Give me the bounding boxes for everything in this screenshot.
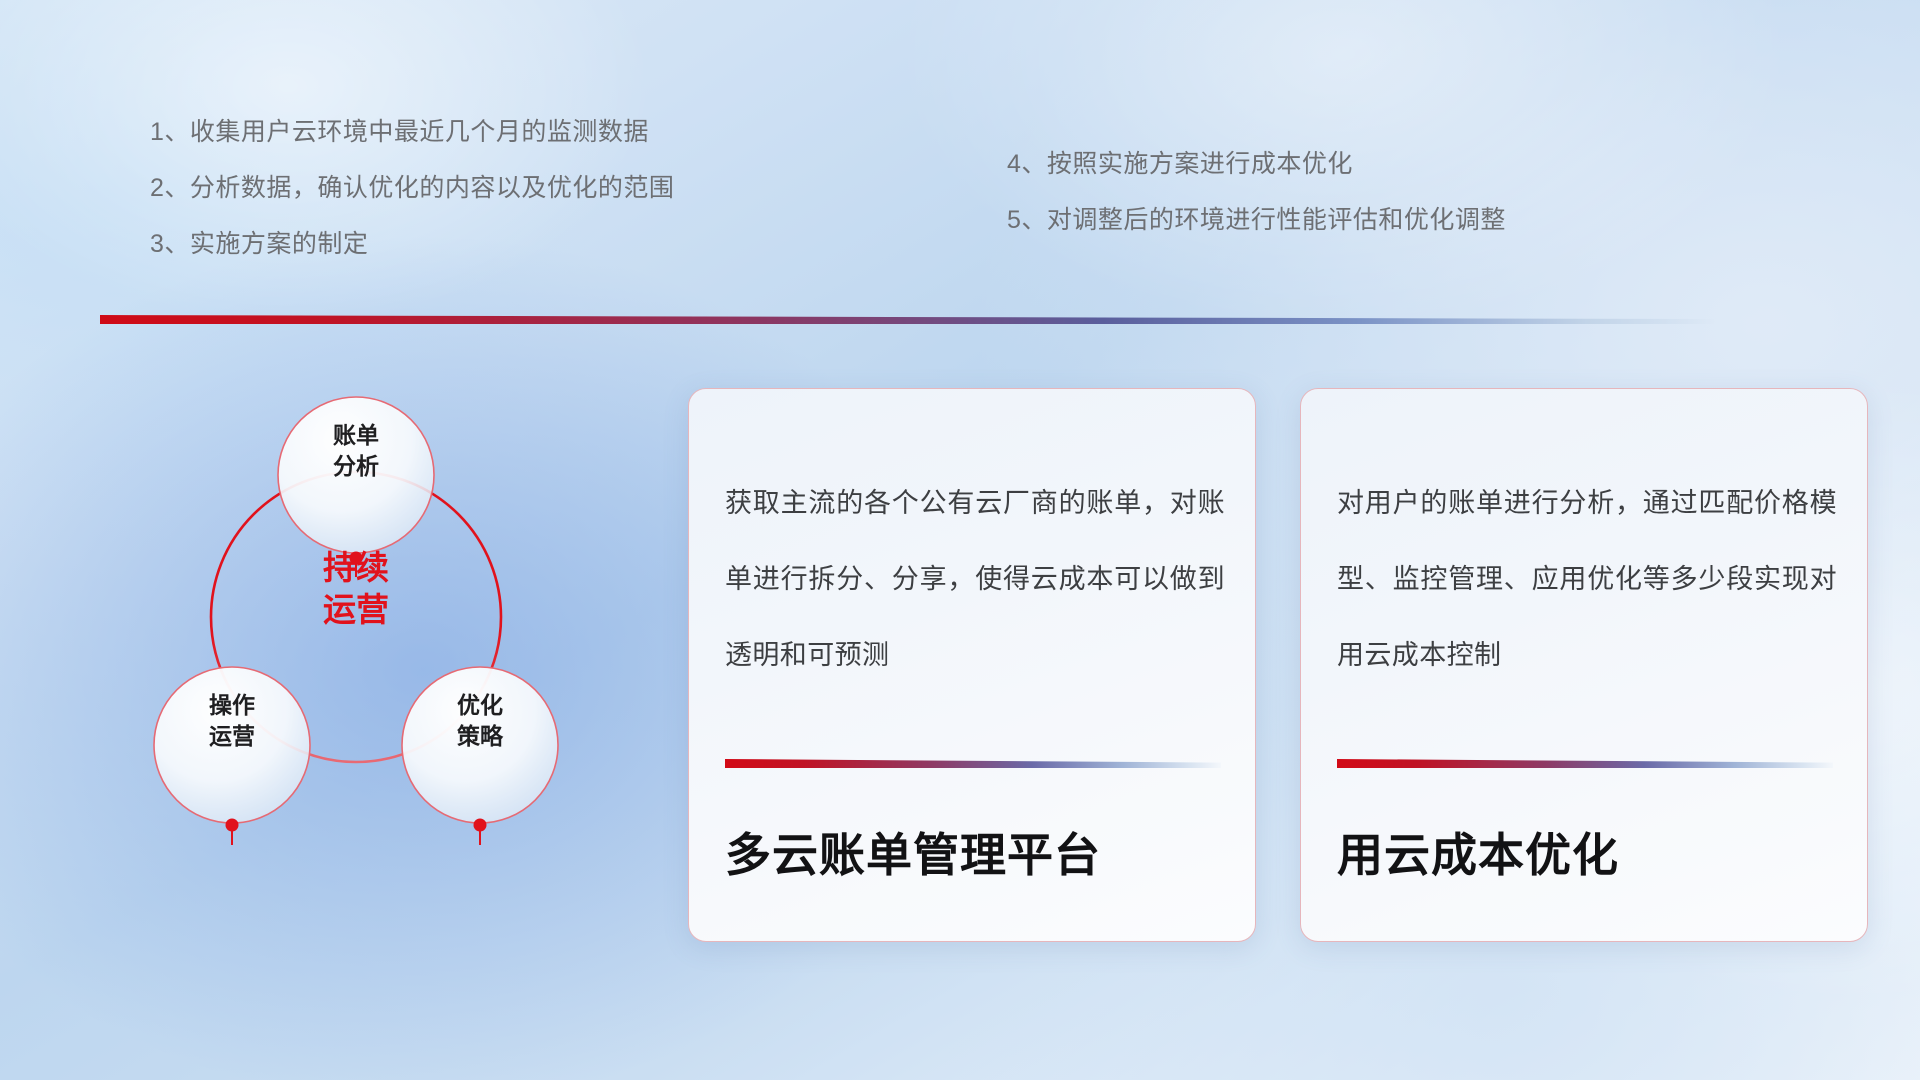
step-item: 4、按照实施方案进行成本优化 — [1007, 136, 1506, 192]
step-item: 1、收集用户云环境中最近几个月的监测数据 — [150, 104, 674, 160]
info-card-multi-cloud-billing[interactable]: 获取主流的各个公有云厂商的账单，对账单进行拆分、分享，使得云成本可以做到透明和可… — [688, 388, 1256, 942]
info-card-cloud-cost-optimization[interactable]: 对用户的账单进行分析，通过匹配价格模型、监控管理、应用优化等多少段实现对用云成本… — [1300, 388, 1868, 942]
card-title: 多云账单管理平台 — [725, 819, 1101, 885]
step-item: 2、分析数据，确认优化的内容以及优化的范围 — [150, 160, 674, 216]
card-body-text: 获取主流的各个公有云厂商的账单，对账单进行拆分、分享，使得云成本可以做到透明和可… — [725, 465, 1225, 693]
header-divider — [100, 315, 1716, 324]
continuous-operation-diagram: 账单 分析 操作 运营 优化 策略 持续 运营 — [95, 365, 615, 925]
card-divider — [1337, 759, 1833, 768]
steps-list-left: 1、收集用户云环境中最近几个月的监测数据 2、分析数据，确认优化的内容以及优化的… — [150, 104, 674, 272]
lobe-circle-right — [402, 667, 558, 823]
slide-canvas: 1、收集用户云环境中最近几个月的监测数据 2、分析数据，确认优化的内容以及优化的… — [0, 0, 1920, 1080]
diagram-svg — [95, 365, 615, 925]
card-body-text: 对用户的账单进行分析，通过匹配价格模型、监控管理、应用优化等多少段实现对用云成本… — [1337, 465, 1837, 693]
lobe-circle-left — [154, 667, 310, 823]
lobe-circle-top — [278, 397, 434, 553]
node-dot-top — [350, 552, 363, 565]
card-divider — [725, 759, 1221, 768]
step-item: 3、实施方案的制定 — [150, 216, 674, 272]
step-item: 5、对调整后的环境进行性能评估和优化调整 — [1007, 192, 1506, 248]
steps-list-right: 4、按照实施方案进行成本优化 5、对调整后的环境进行性能评估和优化调整 — [1007, 136, 1506, 248]
node-dot-right — [474, 819, 487, 832]
card-title: 用云成本优化 — [1337, 819, 1619, 885]
node-dot-left — [226, 819, 239, 832]
